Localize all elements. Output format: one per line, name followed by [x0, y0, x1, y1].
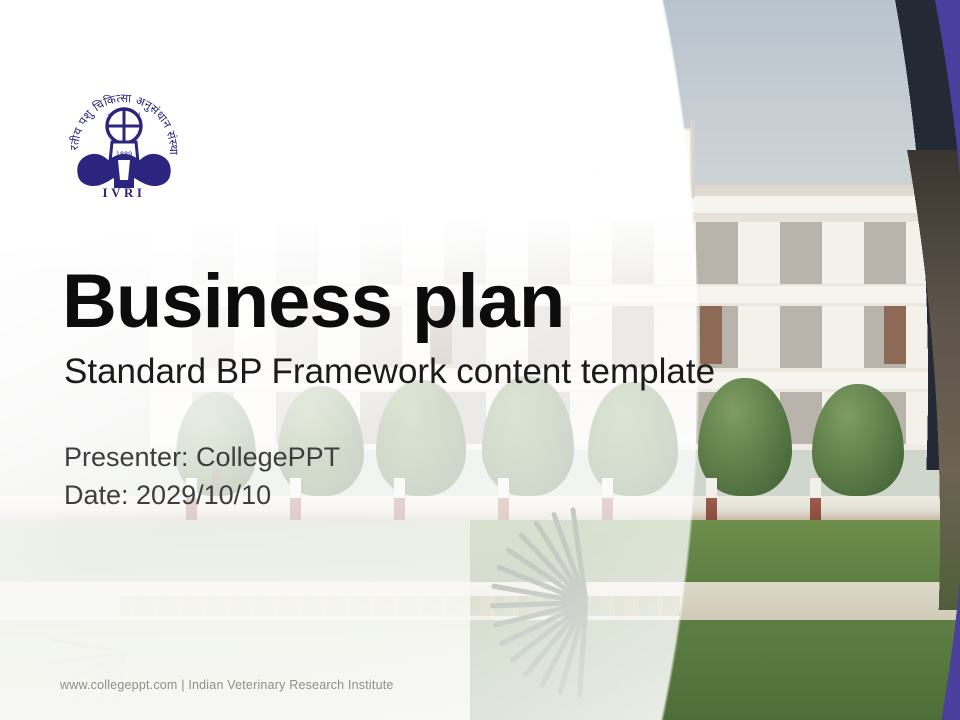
slide-subtitle: Standard BP Framework content template [64, 352, 715, 392]
logo-acronym: IVRI [103, 185, 146, 198]
slide-title: Business plan [62, 258, 564, 345]
ivri-logo: भारतीय पशु चिकित्सा अनुसंधान संस्थान सम्… [68, 68, 180, 198]
date-line: Date: 2029/10/10 [64, 480, 271, 511]
presenter-line: Presenter: CollegePPT [64, 442, 340, 473]
presentation-title-slide: I.V.R.I. [0, 0, 960, 720]
footer-credit: www.collegeppt.com | Indian Veterinary R… [60, 678, 394, 692]
